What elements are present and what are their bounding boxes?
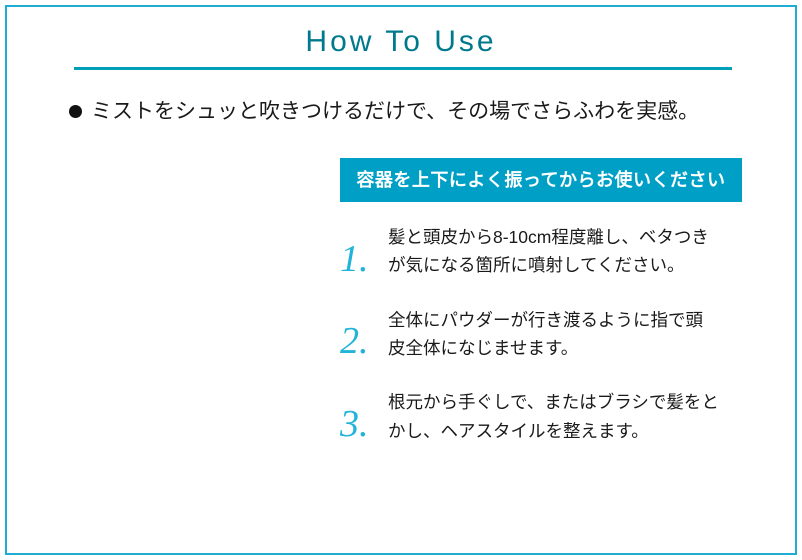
step-text: 全体にパウダーが行き渡るように指で頭 皮全体になじませます。 — [388, 306, 742, 363]
list-item: 2. 全体にパウダーが行き渡るように指で頭 皮全体になじませます。 — [340, 306, 742, 363]
list-item: 1. 髪と頭皮から8-10cm程度離し、ベタつき が気になる箇所に噴射してくださ… — [340, 223, 742, 280]
step-text-line: 全体にパウダーが行き渡るように指で頭 — [388, 306, 742, 334]
how-to-use-panel: How To Use ミストをシュッと吹きつけるだけで、その場でさらふわを実感。… — [0, 0, 802, 560]
step-text-line: 皮全体になじませます。 — [388, 334, 742, 362]
steps-list: 1. 髪と頭皮から8-10cm程度離し、ベタつき が気になる箇所に噴射してくださ… — [340, 223, 742, 445]
bullet-circle-icon — [69, 105, 82, 118]
page-title: How To Use — [305, 25, 496, 58]
lead-text: ミストをシュッと吹きつけるだけで、その場でさらふわを実感。 — [91, 97, 699, 126]
list-item: 3. 根元から手ぐしで、またはブラシで髪をと かし、ヘアスタイルを整えます。 — [340, 388, 742, 445]
step-number: 1. — [340, 240, 388, 280]
step-text: 髪と頭皮から8-10cm程度離し、ベタつき が気になる箇所に噴射してください。 — [388, 223, 742, 280]
step-number: 3. — [340, 405, 388, 445]
step-text-line: かし、ヘアスタイルを整えます。 — [388, 417, 742, 445]
step-text: 根元から手ぐしで、またはブラシで髪をと かし、ヘアスタイルを整えます。 — [388, 388, 742, 445]
step-number: 2. — [340, 322, 388, 362]
panel-border: How To Use ミストをシュッと吹きつけるだけで、その場でさらふわを実感。… — [5, 5, 797, 555]
lead-bullet-line: ミストをシュッと吹きつけるだけで、その場でさらふわを実感。 — [69, 97, 699, 126]
step-text-line: 髪と頭皮から8-10cm程度離し、ベタつき — [388, 223, 742, 251]
header: How To Use — [7, 25, 795, 58]
step-text-line: 根元から手ぐしで、またはブラシで髪をと — [388, 388, 742, 416]
instructions-column: 容器を上下によく振ってからお使いください 1. 髪と頭皮から8-10cm程度離し… — [340, 158, 742, 445]
title-divider — [74, 67, 732, 70]
shake-container-banner: 容器を上下によく振ってからお使いください — [340, 158, 742, 202]
step-text-line: が気になる箇所に噴射してください。 — [388, 251, 742, 279]
